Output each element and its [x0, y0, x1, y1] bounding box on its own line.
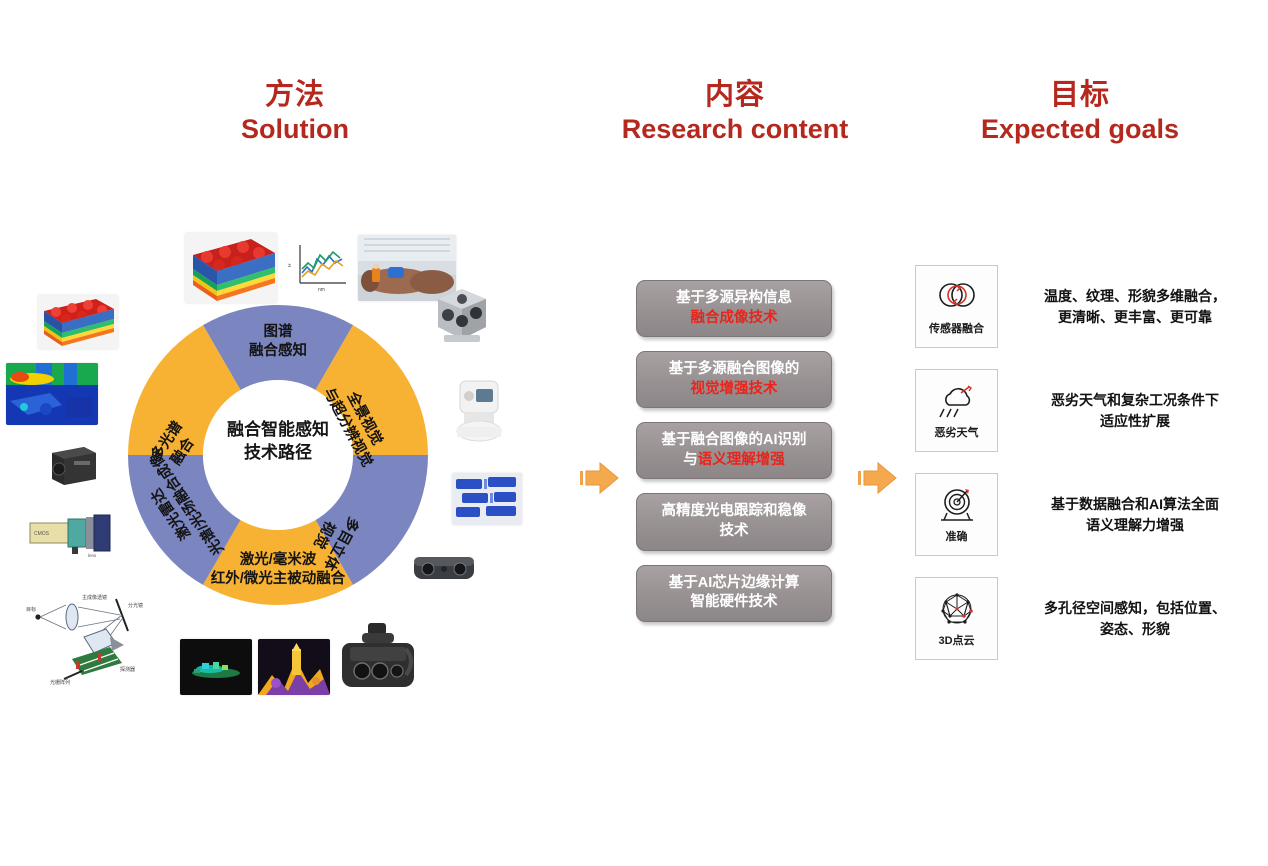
goal-text-accuracy-line1: 基于数据融合和AI算法全面 — [1020, 494, 1250, 514]
svg-text:R: R — [288, 263, 293, 267]
technology-roadmap-wheel — [128, 305, 428, 605]
arrow-content-to-goals — [856, 458, 898, 498]
bad-weather-icon — [935, 381, 979, 421]
point-cloud-icon — [935, 589, 979, 629]
solution-wheel-area: R nm — [0, 215, 560, 745]
camera-module — [44, 441, 100, 487]
target-accuracy-icon — [935, 485, 979, 525]
content-box-3-line2: 与语义理解增强 — [662, 451, 807, 471]
panoramic-camera-rig — [428, 283, 496, 349]
column-header-goals-en: Expected goals — [930, 113, 1230, 146]
hyperspectral-cube-top — [185, 233, 277, 303]
content-box-3-line1: 基于融合图像的AI识别 — [662, 431, 807, 451]
column-header-solution-cn: 方法 — [160, 78, 430, 113]
svg-text:nm: nm — [318, 287, 325, 293]
lens-sensor-assembly: CMOS lens — [26, 511, 118, 557]
goal-text-accuracy-line2: 语义理解力增强 — [1020, 515, 1250, 535]
goal-text-sensor-fusion: 温度、纹理、形貌多维融合， 更清晰、更丰富、更可靠 — [1020, 286, 1250, 327]
content-box-fusion-imaging[interactable]: 基于多源异构信息 融合成像技术 — [636, 280, 832, 337]
eo-ir-turret — [336, 619, 420, 697]
arrow-solution-to-content — [578, 458, 620, 498]
content-box-5-line2: 智能硬件技术 — [669, 593, 800, 613]
goal-text-sensor-fusion-line1: 温度、纹理、形貌多维融合， — [1020, 286, 1250, 306]
goal-text-point-cloud-line2: 姿态、形貌 — [1020, 619, 1250, 639]
content-box-5-line1: 基于AI芯片边缘计算 — [669, 574, 800, 594]
goal-icon-box-sensor-fusion: 传感器融合 — [915, 265, 998, 348]
goal-row-accuracy: 准确 基于数据融合和AI算法全面 语义理解力增强 — [915, 473, 1255, 556]
expected-goals-list: 传感器融合 温度、纹理、形貌多维融合， 更清晰、更丰富、更可靠 恶劣天气 恶劣天… — [915, 265, 1255, 681]
goal-row-sensor-fusion: 传感器融合 温度、纹理、形貌多维融合， 更清晰、更丰富、更可靠 — [915, 265, 1255, 348]
goal-text-bad-weather-line1: 恶劣天气和复杂工况条件下 — [1020, 390, 1250, 410]
research-content-list: 基于多源异构信息 融合成像技术 基于多源融合图像的 视觉增强技术 基于融合图像的… — [636, 280, 846, 636]
svg-text:lens: lens — [88, 553, 97, 557]
svg-text:探测器: 探测器 — [120, 666, 135, 673]
goal-caption-bad-weather: 恶劣天气 — [935, 424, 979, 440]
svg-text:光栅阵列: 光栅阵列 — [50, 679, 70, 685]
goal-text-bad-weather-line2: 适应性扩展 — [1020, 411, 1250, 431]
goal-text-accuracy: 基于数据融合和AI算法全面 语义理解力增强 — [1020, 494, 1250, 535]
goal-icon-box-accuracy: 准确 — [915, 473, 998, 556]
content-box-1-line1: 基于多源异构信息 — [676, 289, 792, 309]
goal-caption-accuracy: 准确 — [946, 528, 968, 544]
gimbal-camera-unit — [450, 375, 508, 445]
column-header-solution-en: Solution — [160, 113, 430, 146]
goal-icon-box-bad-weather: 恶劣天气 — [915, 369, 998, 452]
content-box-4-line2: 技术 — [662, 522, 807, 542]
goal-text-bad-weather: 恶劣天气和复杂工况条件下 适应性扩展 — [1020, 390, 1250, 431]
content-box-3-line2-highlight: 语义理解增强 — [698, 452, 785, 468]
content-box-tracking-stabilization[interactable]: 高精度光电跟踪和稳像 技术 — [636, 493, 832, 550]
column-header-content-cn: 内容 — [600, 78, 870, 113]
content-box-visual-enhancement[interactable]: 基于多源融合图像的 视觉增强技术 — [636, 351, 832, 408]
content-box-3-line2-prefix: 与 — [683, 452, 698, 468]
svg-text:主成像透镜: 主成像透镜 — [82, 594, 107, 601]
column-header-solution: 方法 Solution — [160, 78, 430, 146]
blue-structured-light — [452, 473, 522, 525]
column-header-content-en: Research content — [600, 113, 870, 146]
goal-text-point-cloud-line1: 多孔径空间感知，包括位置、 — [1020, 598, 1250, 618]
goal-row-bad-weather: 恶劣天气 恶劣天气和复杂工况条件下 适应性扩展 — [915, 369, 1255, 452]
lidar-point-cloud — [180, 639, 252, 695]
svg-text:目标: 目标 — [26, 606, 36, 613]
sensor-fusion-icon — [935, 277, 979, 317]
spectral-curve-chart: R nm — [288, 239, 350, 297]
column-header-goals: 目标 Expected goals — [930, 78, 1230, 146]
hyperspectral-cube-left — [38, 295, 118, 349]
content-box-edge-computing[interactable]: 基于AI芯片边缘计算 智能硬件技术 — [636, 565, 832, 622]
svg-text:CMOS: CMOS — [34, 531, 50, 537]
column-header-goals-cn: 目标 — [930, 78, 1230, 113]
content-box-ai-recognition[interactable]: 基于融合图像的AI识别 与语义理解增强 — [636, 422, 832, 479]
column-header-content: 内容 Research content — [600, 78, 870, 146]
goal-caption-sensor-fusion: 传感器融合 — [929, 320, 984, 336]
content-box-2-line2: 视觉增强技术 — [669, 380, 800, 400]
content-box-4-line1: 高精度光电跟踪和稳像 — [662, 502, 807, 522]
goal-text-sensor-fusion-line2: 更清晰、更丰富、更可靠 — [1020, 307, 1250, 327]
goal-row-point-cloud: 3D点云 多孔径空间感知，包括位置、 姿态、形貌 — [915, 577, 1255, 660]
false-color-thermal-image — [6, 363, 98, 425]
goal-icon-box-point-cloud: 3D点云 — [915, 577, 998, 660]
thermal-scene-image — [258, 639, 330, 695]
content-box-2-line1: 基于多源融合图像的 — [669, 360, 800, 380]
goal-text-point-cloud: 多孔径空间感知，包括位置、 姿态、形貌 — [1020, 598, 1250, 639]
content-box-1-line2: 融合成像技术 — [676, 309, 792, 329]
goal-caption-point-cloud: 3D点云 — [938, 632, 974, 648]
